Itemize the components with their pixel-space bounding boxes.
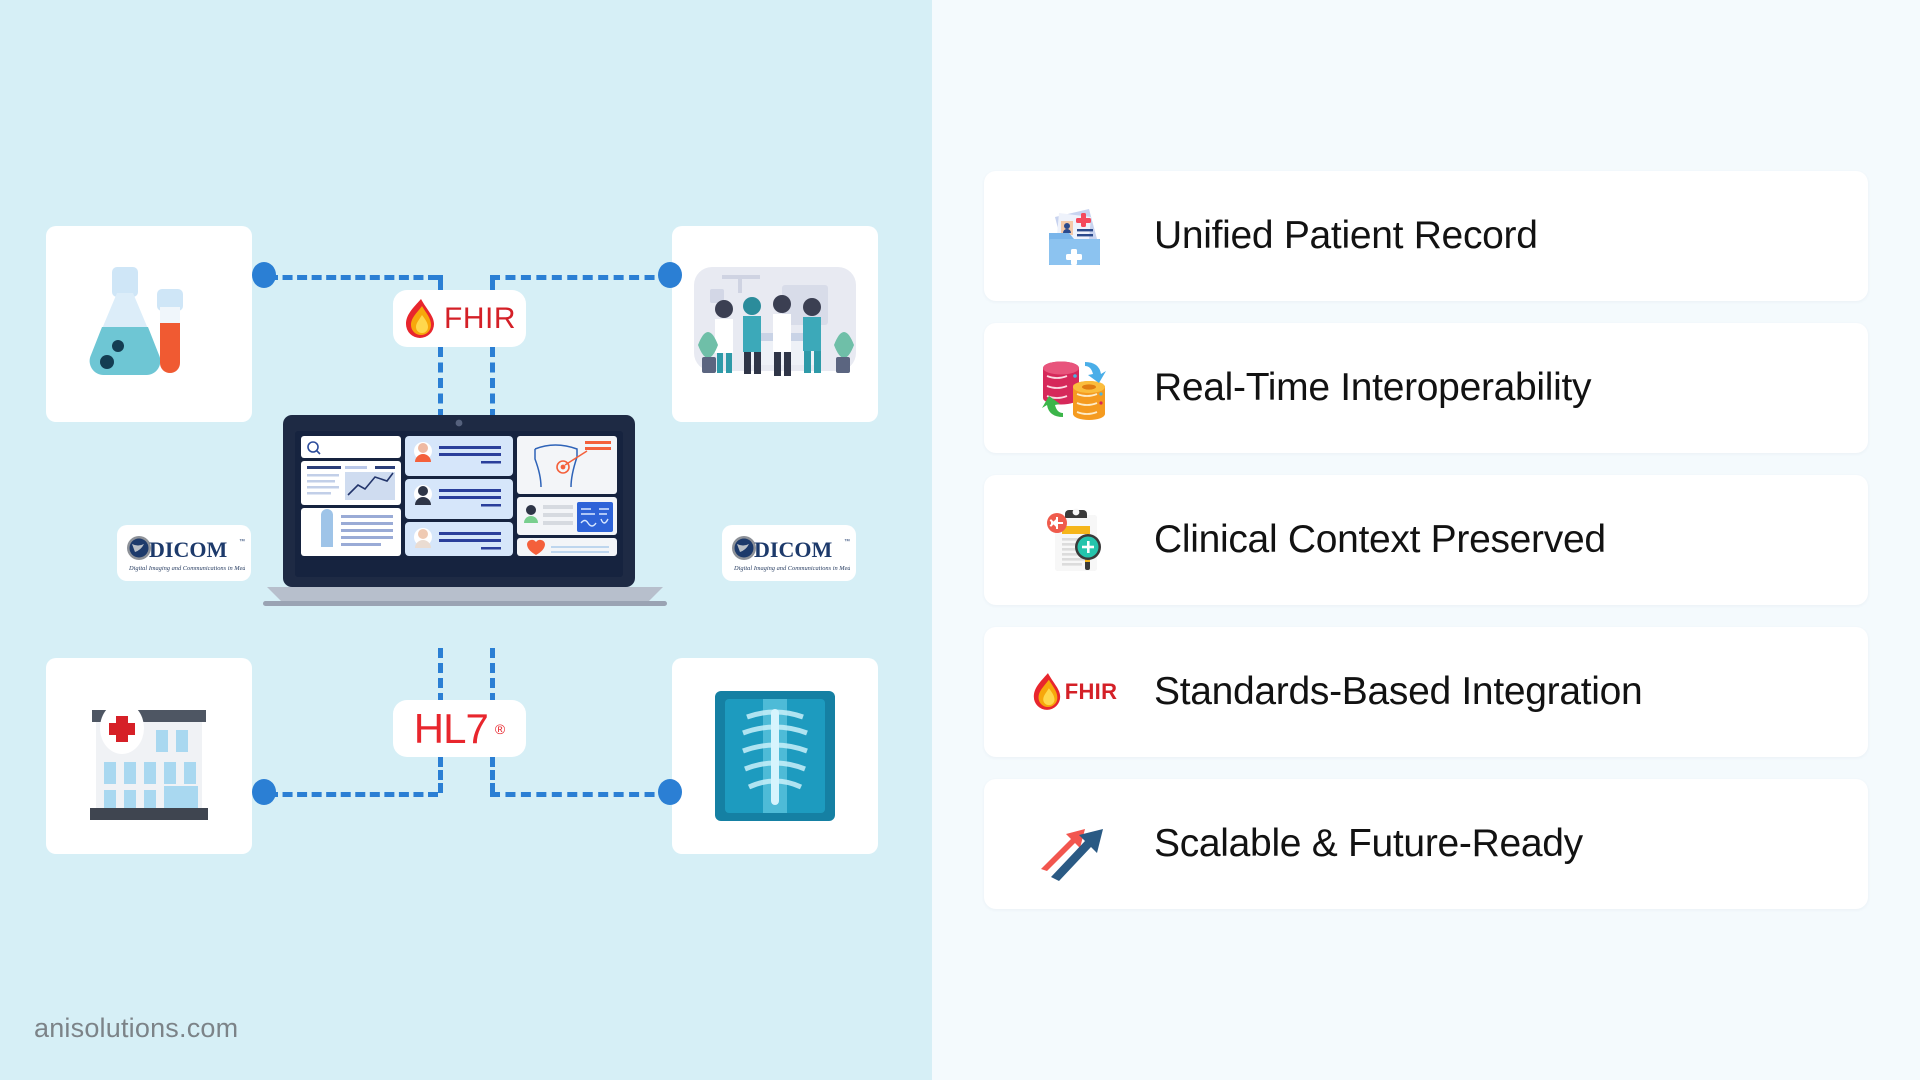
footer-url: anisolutions.com bbox=[34, 1013, 238, 1044]
node-laptop-dashboard[interactable] bbox=[255, 415, 675, 615]
connector-vert-laptop-hl7-r bbox=[490, 648, 495, 703]
dicom-logo: DICOM ™ Digital Imaging and Communicatio… bbox=[123, 531, 245, 575]
feature-card-clinical-context-preserved[interactable]: Clinical Context Preserved bbox=[984, 475, 1868, 605]
svg-text:Digital Imaging and Communicat: Digital Imaging and Communications in Me… bbox=[128, 565, 245, 572]
feature-label: Unified Patient Record bbox=[1154, 214, 1538, 258]
features-panel: Unified Patient Record bbox=[932, 0, 1920, 1080]
svg-text:™: ™ bbox=[844, 538, 850, 545]
feature-card-real-time-interoperability[interactable]: Real-Time Interoperability bbox=[984, 323, 1868, 453]
clipboard-search-icon bbox=[1028, 494, 1120, 586]
growth-arrows-icon bbox=[1028, 798, 1120, 890]
flame-icon bbox=[403, 298, 437, 340]
node-xray[interactable] bbox=[672, 658, 878, 854]
badge-hl7[interactable]: HL7 ® bbox=[393, 700, 526, 757]
infographic-page: DICOM ™ Digital Imaging and Communicatio… bbox=[0, 0, 1920, 1080]
connector-bottom-left bbox=[268, 792, 438, 797]
registered-mark: ® bbox=[495, 721, 505, 737]
connector-vert-fhir-laptop-l bbox=[438, 347, 443, 419]
badge-fhir-label: FHIR bbox=[444, 302, 516, 336]
connector-dot-bottom-left bbox=[252, 779, 276, 805]
connector-vert-br bbox=[490, 757, 495, 793]
hospital-building-icon bbox=[74, 686, 224, 826]
svg-text:™: ™ bbox=[239, 538, 245, 545]
feature-label: Real-Time Interoperability bbox=[1154, 366, 1591, 410]
connector-vert-fhir-laptop-r bbox=[490, 347, 495, 419]
svg-text:Digital Imaging and Communicat: Digital Imaging and Communications in Me… bbox=[733, 565, 850, 572]
fhir-flame-icon: FHIR bbox=[1028, 646, 1120, 738]
connector-dot-bottom-right bbox=[658, 779, 682, 805]
svg-text:DICOM: DICOM bbox=[149, 537, 227, 562]
connector-vert-laptop-hl7-l bbox=[438, 648, 443, 703]
patient-folder-icon bbox=[1028, 190, 1120, 282]
svg-text:DICOM: DICOM bbox=[754, 537, 832, 562]
diagram-panel: DICOM ™ Digital Imaging and Communicatio… bbox=[0, 0, 932, 1080]
chest-xray-icon bbox=[705, 681, 845, 831]
database-sync-icon bbox=[1028, 342, 1120, 434]
laptop-dashboard-icon bbox=[255, 415, 675, 615]
badge-fhir[interactable]: FHIR bbox=[393, 290, 526, 347]
fhir-icon-label: FHIR bbox=[1065, 679, 1118, 705]
node-dicom-right[interactable]: DICOM ™ Digital Imaging and Communicatio… bbox=[722, 525, 856, 581]
feature-label: Clinical Context Preserved bbox=[1154, 518, 1606, 562]
connector-top-left bbox=[268, 275, 438, 280]
badge-hl7-label: HL7 bbox=[414, 705, 488, 753]
dicom-logo: DICOM ™ Digital Imaging and Communicatio… bbox=[728, 531, 850, 575]
connector-dot-top-right bbox=[658, 262, 682, 288]
clinical-team-icon bbox=[686, 249, 864, 399]
node-clinical-team[interactable] bbox=[672, 226, 878, 422]
connector-vert-bl bbox=[438, 757, 443, 793]
feature-card-scalable-future-ready[interactable]: Scalable & Future-Ready bbox=[984, 779, 1868, 909]
lab-flask-icon bbox=[74, 249, 224, 399]
node-hospital[interactable] bbox=[46, 658, 252, 854]
feature-card-standards-based-integration[interactable]: FHIR Standards-Based Integration bbox=[984, 627, 1868, 757]
node-dicom-left[interactable]: DICOM ™ Digital Imaging and Communicatio… bbox=[117, 525, 251, 581]
feature-card-unified-patient-record[interactable]: Unified Patient Record bbox=[984, 171, 1868, 301]
connector-bottom-right bbox=[490, 792, 670, 797]
feature-label: Standards-Based Integration bbox=[1154, 670, 1642, 714]
connector-top-right bbox=[490, 275, 670, 280]
node-lab-flask[interactable] bbox=[46, 226, 252, 422]
feature-label: Scalable & Future-Ready bbox=[1154, 822, 1583, 866]
connector-dot-top-left bbox=[252, 262, 276, 288]
